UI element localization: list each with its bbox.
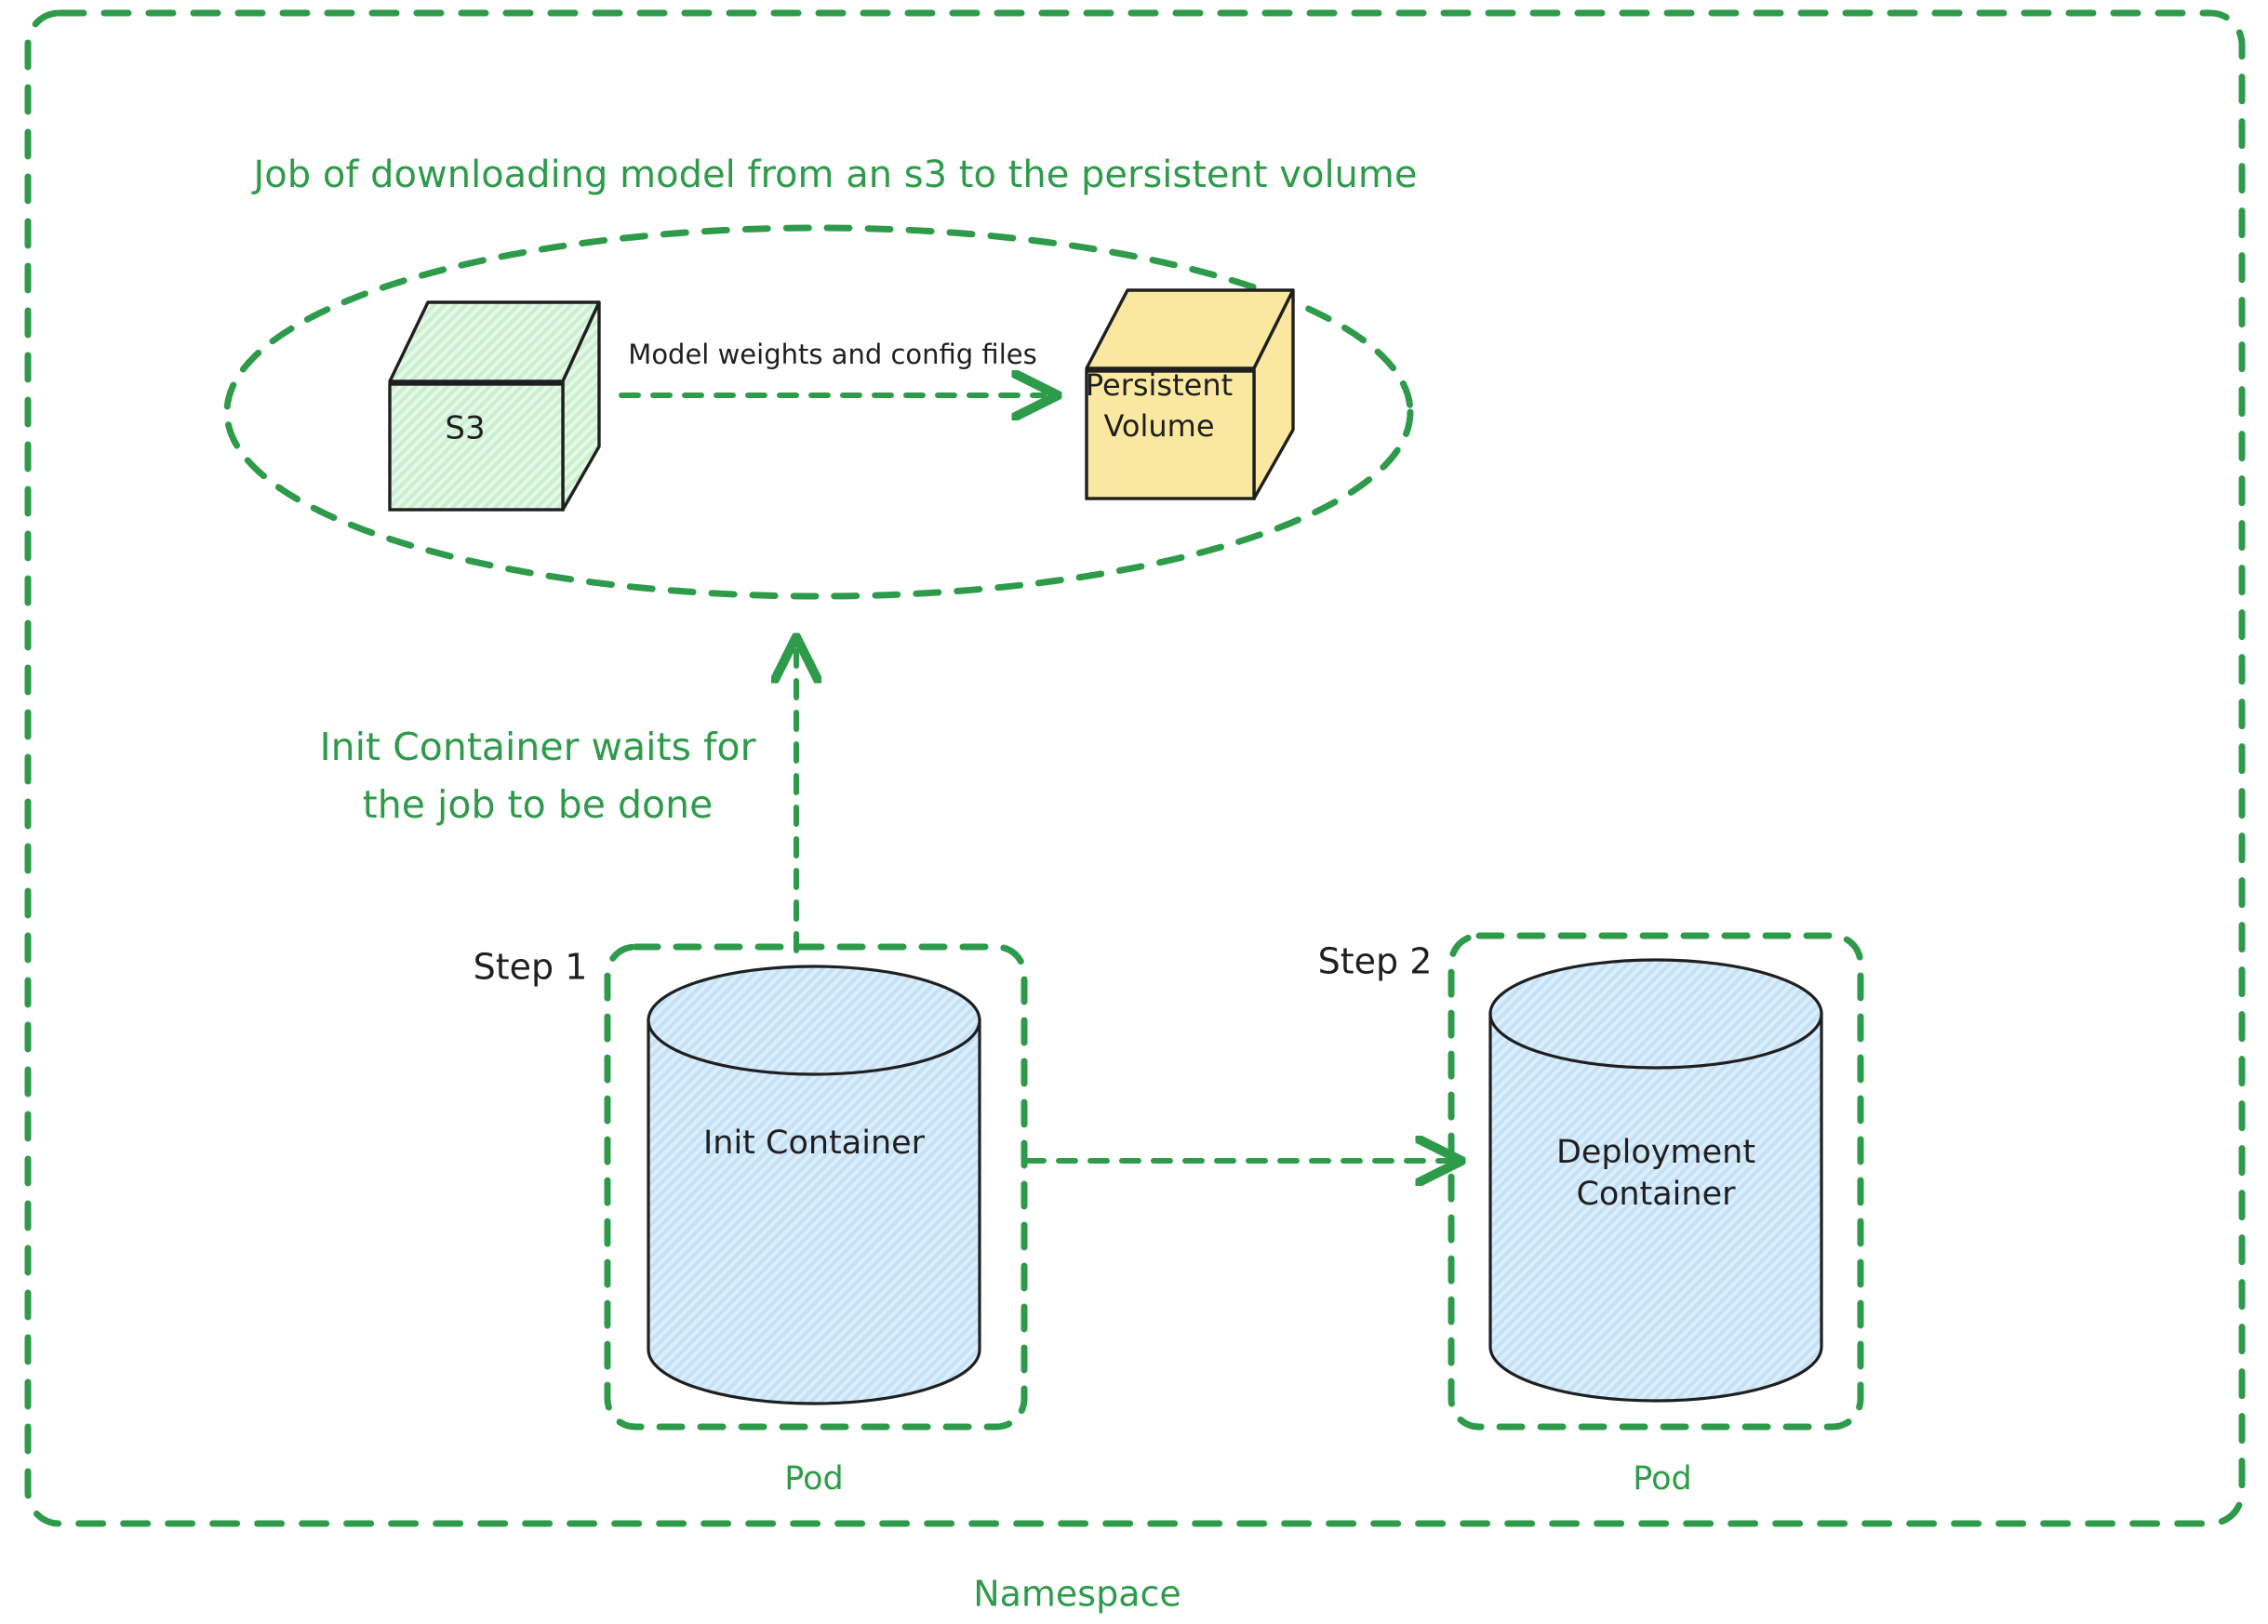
pod-1-label: Pod: [784, 1460, 844, 1498]
pod-1-step-label: Step 1: [474, 947, 588, 988]
deployment-container-label-line2: Container: [1576, 1176, 1736, 1213]
init-container-cylinder: [648, 966, 980, 1404]
model-transfer-arrow-label: Model weights and config files: [628, 339, 1036, 370]
deployment-container-label-line1: Deployment: [1556, 1134, 1755, 1171]
persistent-volume-label-line2: Volume: [1103, 408, 1214, 444]
persistent-volume-label-line1: Persistent: [1086, 367, 1233, 403]
init-container-wait-label-line1: Init Container waits for: [320, 725, 756, 769]
init-container-wait-label-line2: the job to be done: [363, 782, 714, 827]
init-container-label: Init Container: [703, 1125, 926, 1162]
persistent-volume-cube: Persistent Volume: [1086, 290, 1293, 499]
diagram-canvas: S3 Model weights and config files Persis…: [0, 0, 2268, 1624]
pod-step-1[interactable]: Step 1 Init Container Pod: [474, 947, 1024, 1498]
s3-cube-label: S3: [445, 410, 485, 447]
namespace-label: Namespace: [973, 1574, 1181, 1615]
pod-2-label: Pod: [1633, 1460, 1692, 1498]
s3-cube: S3: [390, 302, 599, 510]
architecture-diagram: S3 Model weights and config files Persis…: [0, 0, 2268, 1624]
pod-step-2[interactable]: Step 2 Deployment Container Pod: [1318, 936, 1861, 1498]
pod-2-step-label: Step 2: [1318, 941, 1433, 982]
job-group-title: Job of downloading model from an s3 to t…: [251, 153, 1418, 196]
